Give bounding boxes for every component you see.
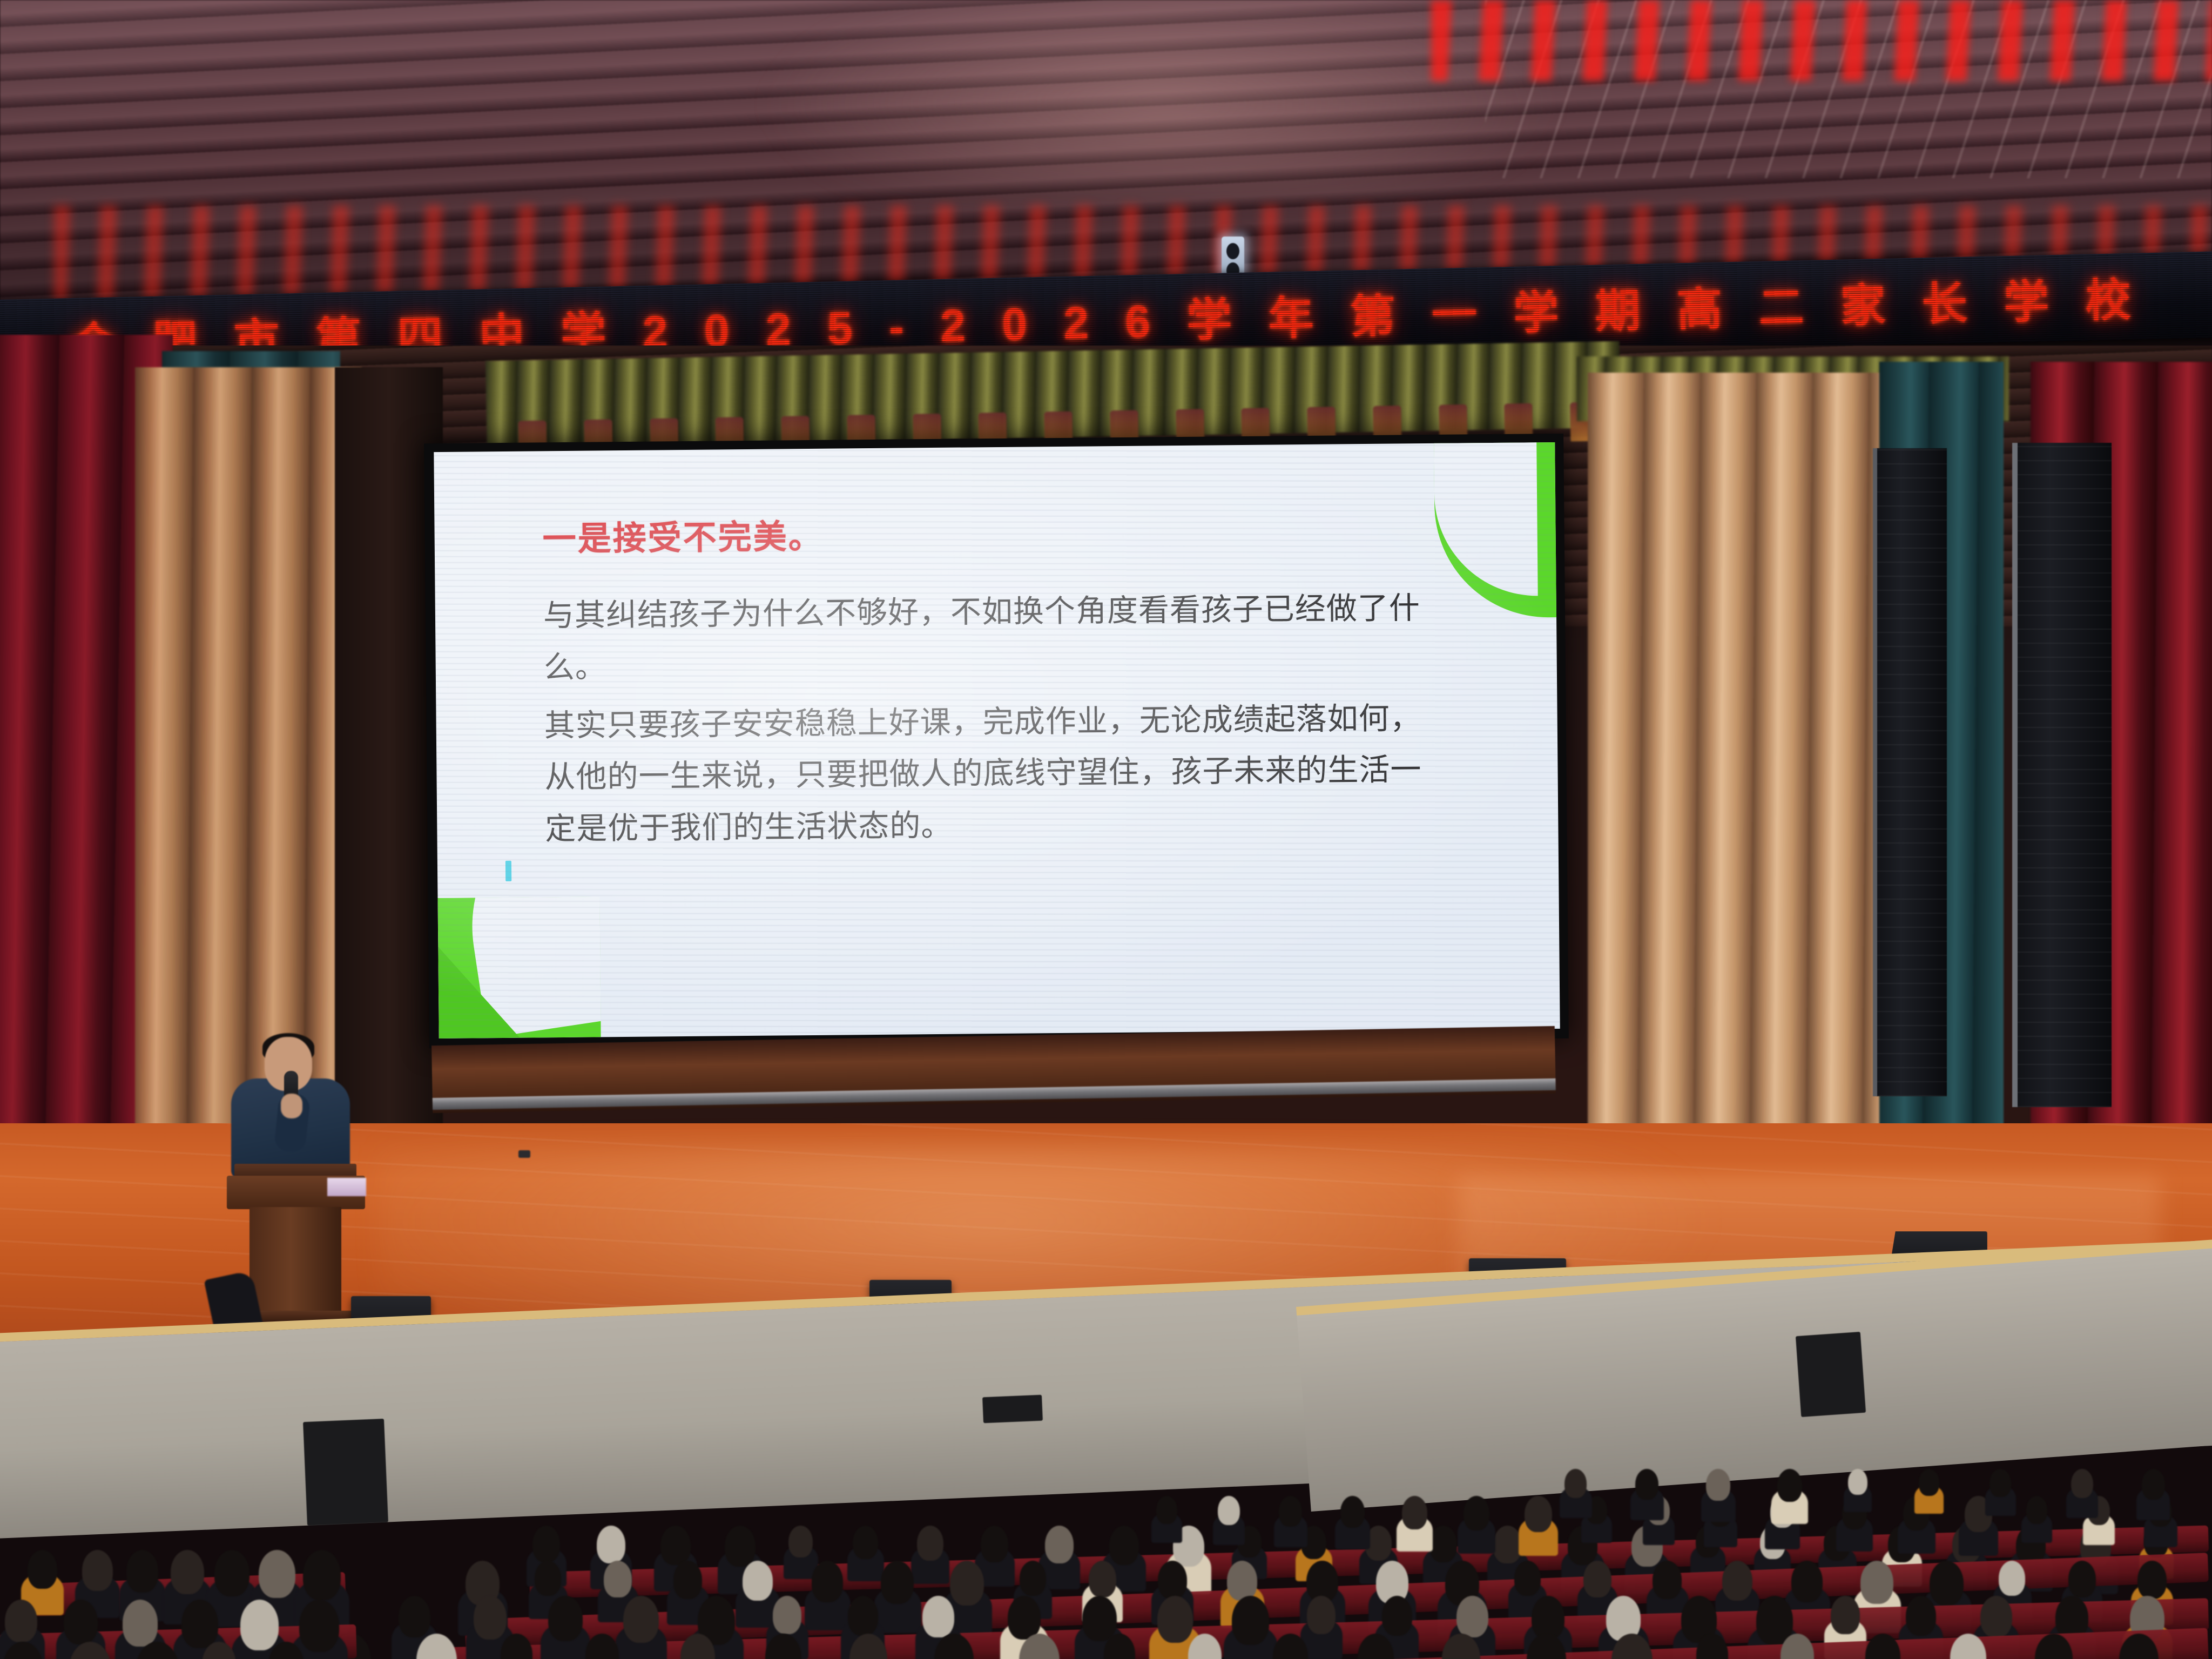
audience-member-head bbox=[2142, 1469, 2165, 1500]
audience-member-head bbox=[214, 1550, 249, 1596]
speaker-tower-edge-right bbox=[2012, 443, 2018, 1107]
presentation-slide: 一是接受不完美。 与其纠结孩子为什么不够好，不如换个角度看看孩子已经做了什么。 … bbox=[434, 442, 1560, 1038]
audience-member-head bbox=[1307, 1596, 1336, 1634]
audience-member-head bbox=[812, 1561, 843, 1602]
audience-member-head bbox=[303, 1550, 341, 1600]
audience-member-head bbox=[2068, 1561, 2096, 1597]
audience-member-head bbox=[1777, 1469, 1802, 1502]
audience-member-head bbox=[1156, 1496, 1177, 1524]
audience-member-head bbox=[123, 1600, 158, 1647]
audience-member-head bbox=[1919, 1469, 1939, 1496]
presenter-cursor-mark bbox=[505, 861, 511, 881]
audience-member-head bbox=[1456, 1596, 1488, 1637]
audience-member-head bbox=[1340, 1496, 1365, 1528]
audience-member-head bbox=[1493, 1526, 1522, 1563]
audience-member-head bbox=[1020, 1561, 1046, 1596]
audience-member-head bbox=[171, 1550, 204, 1594]
audience-member-head bbox=[181, 1600, 218, 1648]
audience-member-head bbox=[1906, 1596, 1936, 1636]
audience-member-head bbox=[1635, 1469, 1658, 1500]
audience-member-head bbox=[1860, 1561, 1893, 1604]
audience-member-head bbox=[673, 1561, 703, 1599]
audience-member-head bbox=[881, 1561, 914, 1604]
audience-member-head bbox=[64, 1600, 98, 1644]
audience-member-head bbox=[1564, 1469, 1587, 1498]
audience-member-head bbox=[1382, 1596, 1412, 1636]
stage-floor-marker bbox=[518, 1150, 530, 1158]
audience-member-head bbox=[1930, 1561, 1964, 1606]
audience-member-head bbox=[1089, 1561, 1116, 1597]
audience-member-head bbox=[788, 1526, 813, 1557]
podium-column bbox=[249, 1207, 341, 1315]
auditorium-photo: 合 肥 市 第 四 中 学 2 0 2 5 - 2 0 2 6 学 年 第 一 … bbox=[0, 0, 2212, 1659]
line-array-speaker-tower-right bbox=[2017, 443, 2112, 1107]
audience-member-head bbox=[240, 1600, 279, 1650]
audience-member-head bbox=[299, 1600, 339, 1652]
audience-member-head bbox=[1653, 1561, 1682, 1599]
audience-member-head bbox=[660, 1526, 690, 1565]
audience-member-head bbox=[474, 1596, 507, 1640]
audience-member-head bbox=[1429, 1526, 1457, 1562]
audience-member-head bbox=[725, 1526, 756, 1567]
curtain-tan-right bbox=[1588, 373, 1923, 1215]
audience-member-head bbox=[1990, 1469, 2011, 1497]
projection-screen: 一是接受不完美。 与其纠结孩子为什么不够好，不如换个角度看看孩子已经做了什么。 … bbox=[424, 434, 1569, 1048]
audience-member-head bbox=[773, 1596, 801, 1634]
slide-paragraph-1: 与其纠结孩子为什么不够好，不如换个角度看看孩子已经做了什么。 bbox=[543, 583, 1452, 694]
audience-member-head bbox=[623, 1596, 659, 1643]
audience-member-head bbox=[1232, 1596, 1269, 1645]
audience-member-head bbox=[1218, 1496, 1240, 1525]
audience-member-head bbox=[399, 1596, 430, 1637]
audience-member-head bbox=[1227, 1561, 1257, 1601]
audience-member-head bbox=[1848, 1469, 1867, 1495]
audience-member-head bbox=[2071, 1469, 2093, 1498]
audience-member-head bbox=[1157, 1596, 1193, 1643]
audience-member-head bbox=[1402, 1496, 1427, 1529]
slide-paragraph-2: 其实只要孩子安安稳稳上好课，完成作业，无论成绩起落如何，从他的一生来说，只要把做… bbox=[544, 692, 1452, 855]
speaker-tower-edge-left bbox=[1873, 448, 1877, 1096]
audience-member-head bbox=[28, 1550, 57, 1589]
audience-member-head bbox=[922, 1596, 954, 1637]
audience-member-head bbox=[1532, 1596, 1564, 1640]
audience-member-head bbox=[1831, 1596, 1859, 1634]
audience-member-head bbox=[597, 1526, 625, 1563]
audience-area bbox=[0, 1388, 2212, 1659]
slide-green-corner-top-right bbox=[1434, 442, 1560, 618]
audience-member-head bbox=[82, 1550, 113, 1591]
audience-member-head bbox=[848, 1596, 878, 1636]
slide-content: 一是接受不完美。 与其纠结孩子为什么不够好，不如换个角度看看孩子已经做了什么。 … bbox=[542, 504, 1452, 855]
audience-member-head bbox=[535, 1561, 561, 1596]
audience-member-head bbox=[532, 1526, 560, 1562]
audience-member-head bbox=[604, 1561, 631, 1597]
audience-member-head bbox=[1525, 1496, 1552, 1532]
audience-member-head bbox=[743, 1561, 773, 1601]
audience-member-head bbox=[917, 1526, 943, 1561]
audience-member-head bbox=[1082, 1596, 1117, 1641]
audience-member-head bbox=[2026, 1496, 2047, 1524]
audience-member-head bbox=[1999, 1561, 2025, 1596]
podium-paper-sheet bbox=[327, 1178, 366, 1196]
podium-and-presenter: 合肥市第四中学 bbox=[216, 1029, 378, 1342]
audience-member-head bbox=[1980, 1596, 2012, 1637]
line-array-speaker-tower-left bbox=[1877, 448, 1947, 1096]
audience-member-head bbox=[1722, 1561, 1752, 1601]
audience-member-head bbox=[1464, 1496, 1490, 1530]
slide-heading: 一是接受不完美。 bbox=[542, 504, 1450, 561]
audience-member-head bbox=[1791, 1561, 1823, 1602]
audience-member-head bbox=[1008, 1596, 1041, 1640]
audience-member-head bbox=[1279, 1496, 1302, 1527]
audience-member-head bbox=[1583, 1561, 1611, 1597]
audience-member-head bbox=[950, 1561, 984, 1606]
audience-member-head bbox=[1109, 1526, 1139, 1565]
audience-member-head bbox=[2137, 1561, 2167, 1599]
audience-member-head bbox=[1514, 1561, 1541, 1596]
audience-member-head bbox=[548, 1596, 583, 1641]
presenter-hand bbox=[281, 1094, 302, 1118]
audience-member-head bbox=[5, 1600, 37, 1642]
audience-member-head bbox=[853, 1526, 878, 1559]
audience-member-head bbox=[259, 1550, 295, 1598]
audience-member-head bbox=[981, 1526, 1008, 1562]
audience-member-head bbox=[1158, 1561, 1187, 1599]
audience-member-head bbox=[126, 1550, 159, 1593]
audience-member-head bbox=[1706, 1469, 1730, 1501]
ceiling-red-light-row-right bbox=[1431, 0, 2212, 81]
audience-member-head bbox=[1045, 1526, 1074, 1563]
